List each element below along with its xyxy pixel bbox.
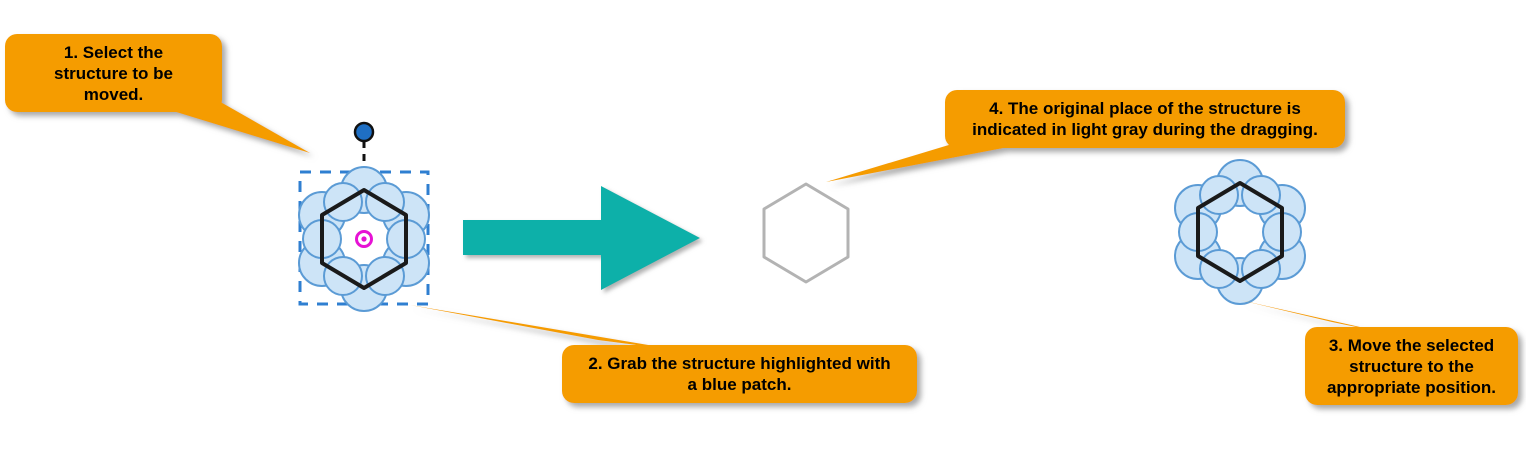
callout-1 (5, 34, 310, 153)
moved-structure-group[interactable] (1175, 160, 1305, 304)
callout-3-bubble (1305, 327, 1518, 405)
ghost-original-position-hexagon (764, 184, 848, 282)
callout-4 (826, 90, 1345, 182)
rotation-center-marker[interactable] (357, 232, 372, 247)
callout-2-tail (410, 305, 690, 352)
callout-1-bubble (5, 34, 222, 112)
callout-2-bubble (562, 345, 917, 403)
tutorial-illustration-canvas: 1. Select the structure to be moved. 2. … (0, 0, 1526, 463)
rotation-handle-knob[interactable] (355, 123, 373, 141)
selected-structure-group[interactable] (299, 123, 429, 311)
callout-4-bubble (945, 90, 1345, 148)
illustration-svg (0, 0, 1526, 463)
callout-2 (410, 305, 917, 403)
drag-direction-arrow (463, 186, 700, 290)
callout-3 (1240, 300, 1518, 405)
